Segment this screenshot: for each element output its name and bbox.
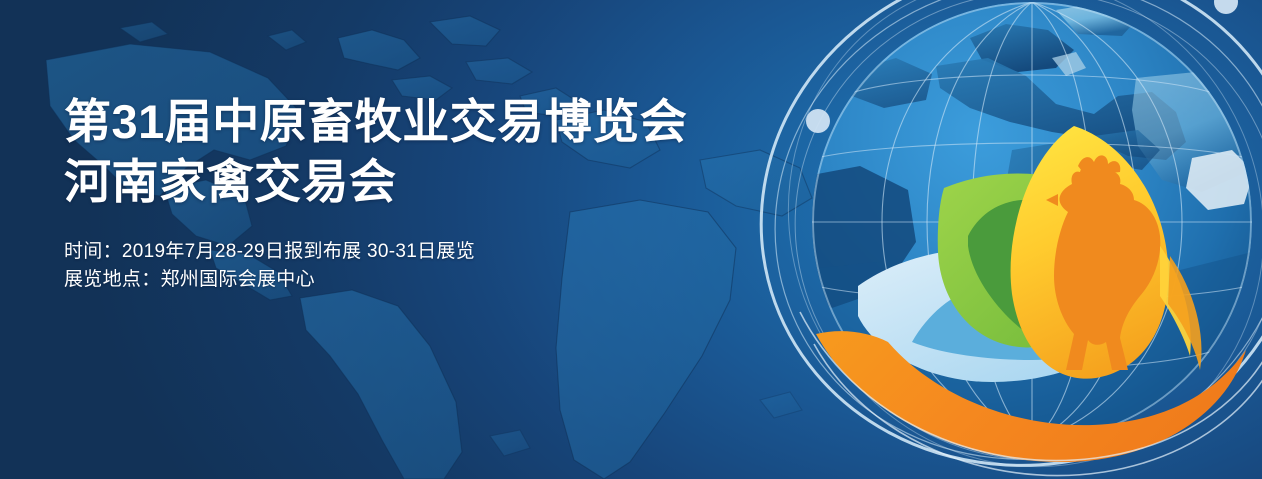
- headline-line-1: 第31届中原畜牧业交易博览会: [64, 92, 764, 152]
- expo-banner: 第31届中原畜牧业交易博览会 河南家禽交易会 时间：2019年7月28-29日报…: [0, 0, 1262, 479]
- tail-feathers: [1160, 246, 1202, 370]
- orange-swoosh: [816, 331, 1246, 462]
- orbit-rings: [756, 0, 1262, 479]
- globe-logo-graphic: [756, 0, 1262, 479]
- orbit-node-left-icon: [806, 109, 830, 133]
- globe-continents: [756, 2, 1262, 479]
- globe-sphere: [812, 2, 1252, 442]
- petal-cow: [858, 248, 1123, 382]
- event-time-line: 时间：2019年7月28-29日报到布展 30-31日展览: [64, 238, 764, 266]
- banner-details: 时间：2019年7月28-29日报到布展 30-31日展览 展览地点：郑州国际会…: [64, 238, 764, 294]
- event-venue-line: 展览地点：郑州国际会展中心: [64, 266, 764, 294]
- banner-text-block: 第31届中原畜牧业交易博览会 河南家禽交易会 时间：2019年7月28-29日报…: [64, 92, 764, 294]
- orbit-node-right-icon: [1214, 0, 1238, 14]
- petal-rooster: [1011, 126, 1169, 379]
- petal-pig: [938, 173, 1121, 347]
- headline-line-2: 河南家禽交易会: [64, 152, 764, 212]
